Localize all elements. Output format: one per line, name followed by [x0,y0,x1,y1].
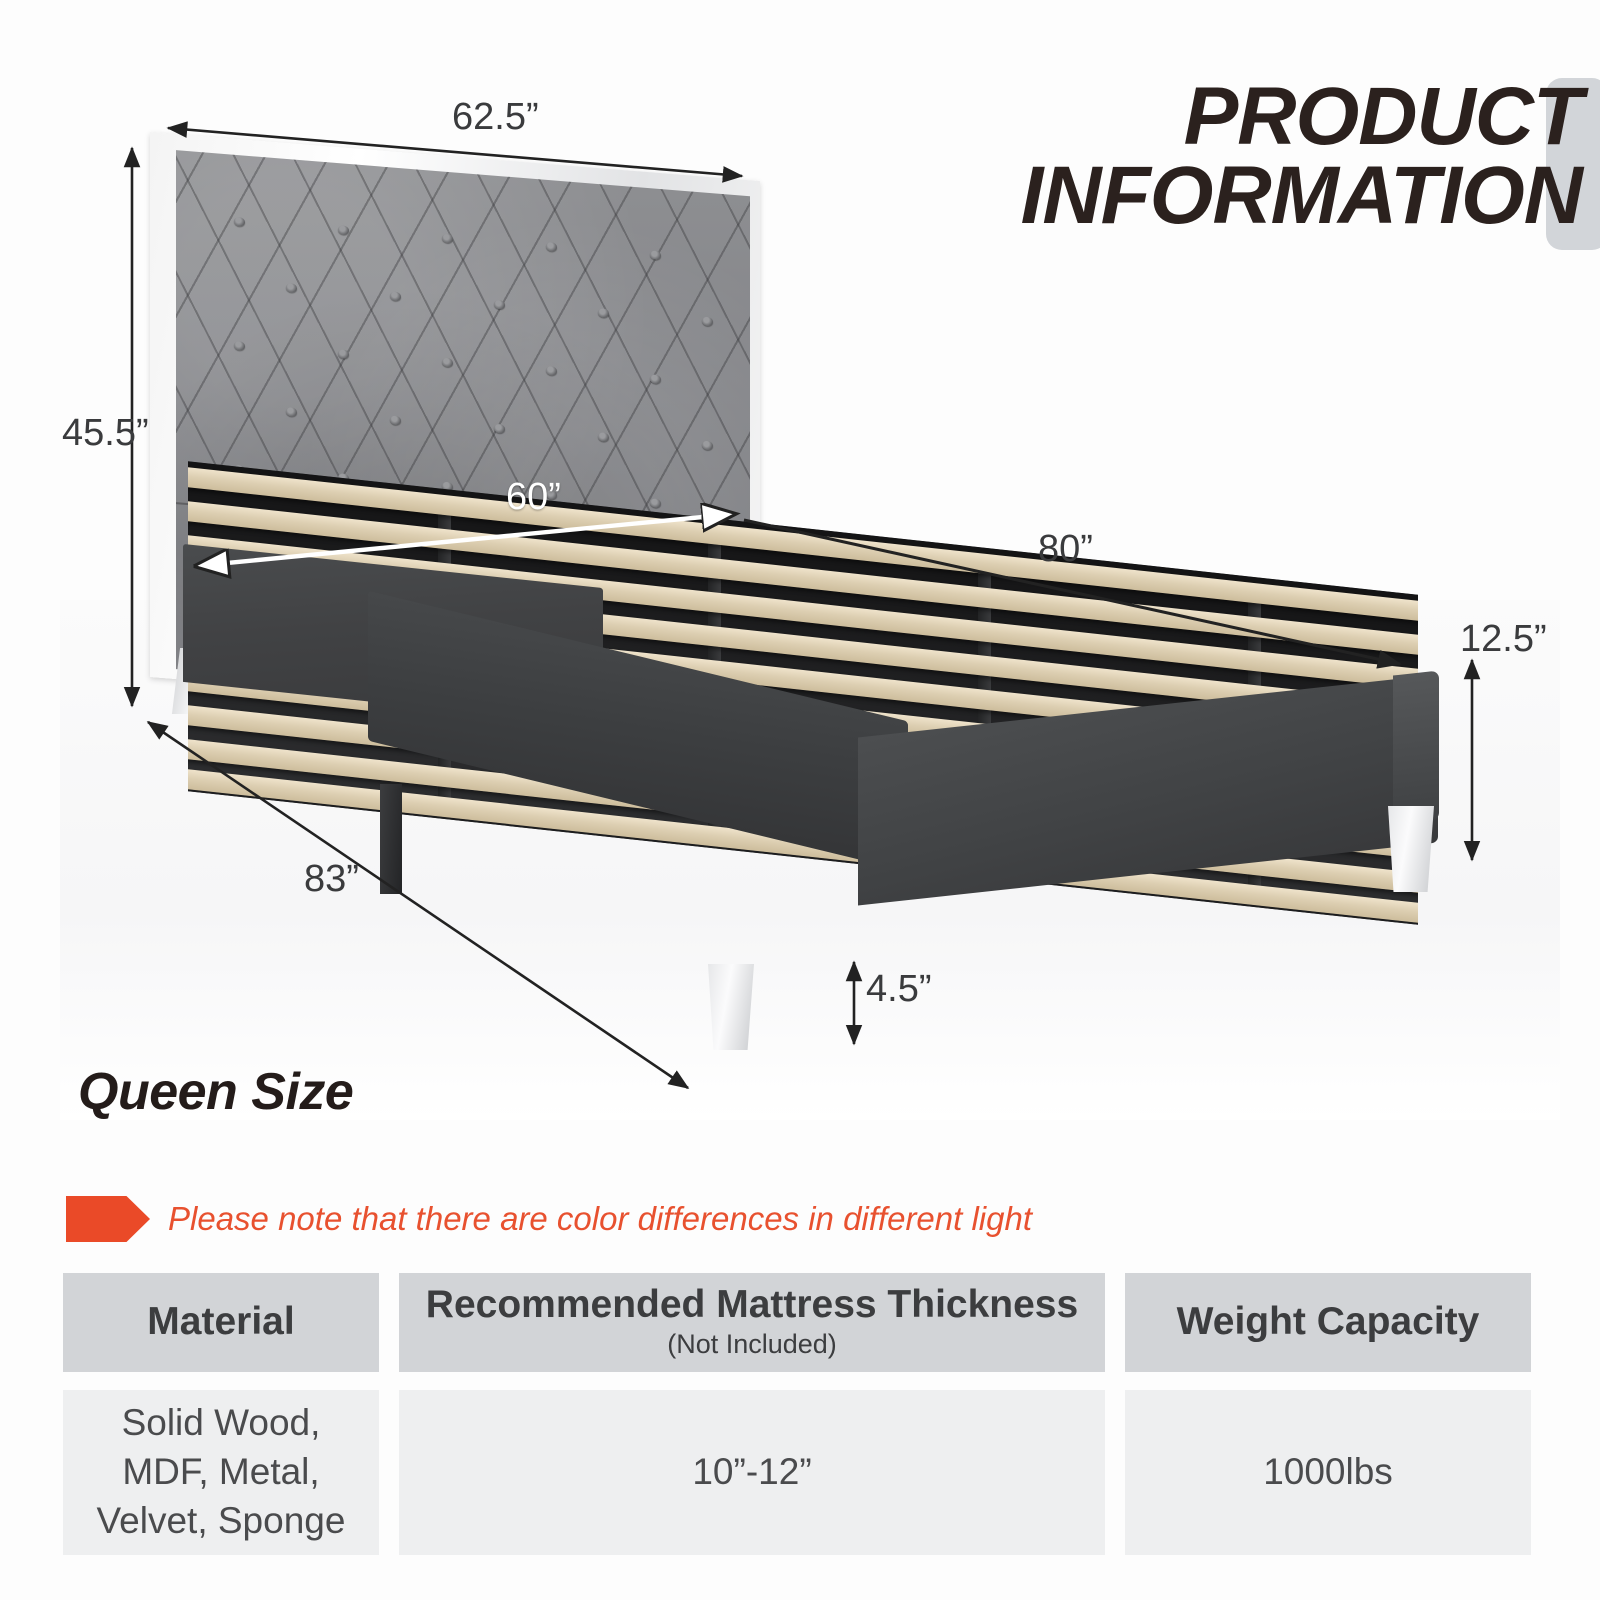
dim-overall-length: 83” [304,858,359,901]
dim-mattress-width: 60” [506,476,561,519]
spec-header-material: Material [63,1273,379,1372]
spec-table-header-row: Material Recommended Mattress Thickness … [63,1273,1533,1372]
size-label: Queen Size [78,1062,353,1122]
spec-table-body-row: Solid Wood,MDF, Metal,Velvet, Sponge 10”… [63,1390,1533,1555]
spec-value-capacity-text: 1000lbs [1263,1448,1393,1497]
dim-headboard-width: 62.5” [452,96,539,139]
dim-frame-height: 12.5” [1460,618,1547,661]
product-diagram: 62.5” 45.5” 60” 80” 12.5” 83” 4.5” Queen… [0,0,1600,1130]
spec-value-capacity: 1000lbs [1125,1390,1531,1555]
dim-clearance-height: 4.5” [866,968,931,1011]
spec-header-thickness-label: Recommended Mattress Thickness [426,1285,1078,1326]
spec-header-thickness: Recommended Mattress Thickness (Not Incl… [399,1273,1105,1372]
spec-header-capacity-label: Weight Capacity [1177,1302,1480,1343]
spec-header-capacity: Weight Capacity [1125,1273,1531,1372]
spec-header-thickness-sub: (Not Included) [667,1330,837,1360]
color-note: Please note that there are color differe… [66,1196,1032,1242]
spec-header-material-label: Material [147,1302,294,1343]
dimension-arrows [0,0,1600,1130]
color-note-text: Please note that there are color differe… [168,1200,1032,1238]
spec-value-material: Solid Wood,MDF, Metal,Velvet, Sponge [63,1390,379,1555]
spec-value-thickness-text: 10”-12” [692,1448,811,1497]
dim-mattress-length: 80” [1038,528,1093,571]
spec-value-material-text: Solid Wood,MDF, Metal,Velvet, Sponge [97,1399,346,1545]
dim-headboard-height: 45.5” [62,412,149,455]
spec-value-thickness: 10”-12” [399,1390,1105,1555]
spec-table: Material Recommended Mattress Thickness … [63,1273,1533,1555]
page-canvas: PRODUCT INFORMATION [0,0,1600,1600]
arrow-right-banner-icon [66,1196,150,1242]
